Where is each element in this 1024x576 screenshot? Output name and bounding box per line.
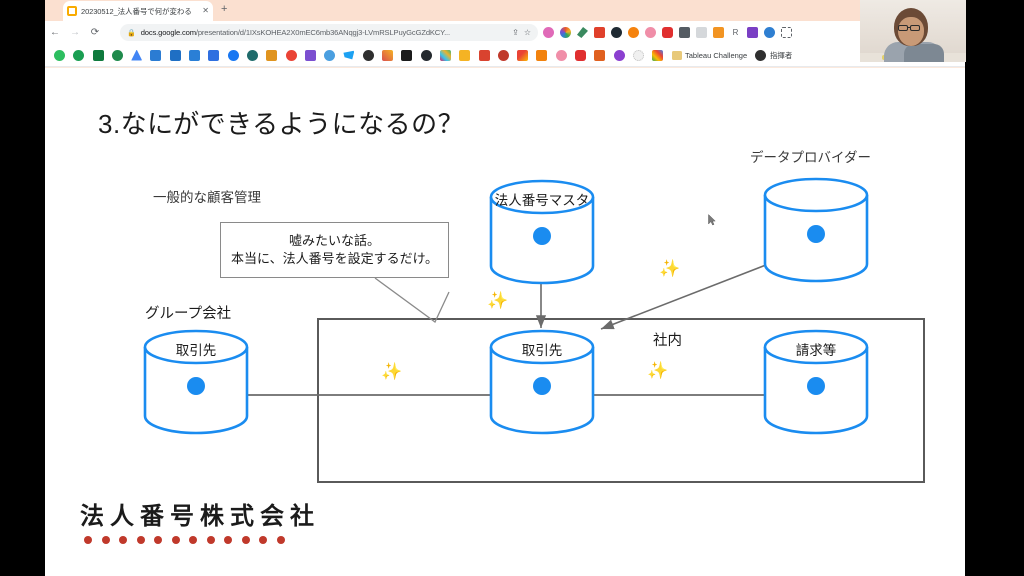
bookmark-orange-grid[interactable] <box>536 50 547 61</box>
logo-dot <box>102 536 110 544</box>
browser-tab[interactable]: 20230512_法人番号で何が変わる ✕ <box>63 1 213 21</box>
url-text: docs.google.com/presentation/d/1IXsKOHEA… <box>141 28 507 37</box>
logo-dot <box>189 536 197 544</box>
logo-dot <box>137 536 145 544</box>
bookmark-cloud-blue[interactable] <box>324 50 335 61</box>
sparkle-icon-2: ✨ <box>659 260 680 277</box>
logo-dot <box>277 536 285 544</box>
extension-r-letter[interactable]: R <box>730 27 741 38</box>
bookmark-book-blue[interactable] <box>208 50 219 61</box>
bookmark-link-shikisha[interactable]: 指揮者 <box>755 50 792 61</box>
cylinder-label: 取引先 <box>488 339 596 359</box>
url-path: /presentation/d/1IXsKOHEA2X0mEC6mb36ANqg… <box>196 28 450 37</box>
extension-colorwheel[interactable] <box>560 27 571 38</box>
bookmark-youtube[interactable] <box>575 50 586 61</box>
cylinder-label: 法人番号マスタ <box>488 189 596 209</box>
browser-window: 20230512_法人番号で何が変わる ✕ + ← → ⟳ 🔒 docs.goo… <box>45 0 965 68</box>
forward-button[interactable]: → <box>65 27 85 38</box>
bookmark-bracket-green[interactable] <box>93 50 104 61</box>
logo-dot <box>259 536 267 544</box>
cylinder-houjin-bangou-master[interactable]: 法人番号マスタ <box>488 180 596 286</box>
extension-pink[interactable] <box>543 27 554 38</box>
page-title: 3.なにができるようになるの？ <box>98 104 464 141</box>
bookmark-shield-green[interactable] <box>112 50 123 61</box>
bookmark-sheets-blue[interactable] <box>150 50 161 61</box>
label-data-provider: データプロバイダー <box>750 146 871 166</box>
cylinder-group-company-torihikisaki[interactable]: 取引先 <box>142 330 250 436</box>
close-icon[interactable]: ✕ <box>202 7 209 15</box>
bookmark-bar-chart-red[interactable] <box>479 50 490 61</box>
glasses-bridge-icon <box>908 27 911 28</box>
bookmark-google-drive[interactable] <box>131 50 142 61</box>
browser-toolbar: ← → ⟳ 🔒 docs.google.com/presentation/d/1… <box>45 21 965 44</box>
bookmark-chart-orange[interactable] <box>266 50 277 61</box>
extension-search-gray[interactable] <box>696 27 707 38</box>
webcam-overlay[interactable] <box>860 0 966 62</box>
cylinder-seikyuu[interactable]: 請求等 <box>762 330 870 436</box>
webcam-face <box>898 17 924 46</box>
extension-capture[interactable] <box>781 27 792 38</box>
bookmark-gear-dotted[interactable] <box>633 50 644 61</box>
bookmark-nodes-pink[interactable] <box>556 50 567 61</box>
tab-title: 20230512_法人番号で何が変わる <box>81 6 198 17</box>
extension-pink-nodes[interactable] <box>645 27 656 38</box>
bookmark-google[interactable] <box>286 50 297 61</box>
extension-gray-send[interactable] <box>679 27 690 38</box>
extension-purple-badge[interactable] <box>747 27 758 38</box>
company-name: 法人番号株式会社 <box>80 496 320 531</box>
logo-dot <box>224 536 232 544</box>
address-bar[interactable]: 🔒 docs.google.com/presentation/d/1IXsKOH… <box>120 24 538 41</box>
cylinder-label: 取引先 <box>142 339 250 359</box>
bookmark-share-blue[interactable] <box>189 50 200 61</box>
folder-icon <box>672 51 682 60</box>
bookmark-purple-app[interactable] <box>305 50 316 61</box>
extension-red-badge[interactable] <box>594 27 605 38</box>
logo-dot <box>242 536 250 544</box>
extension-grammarly[interactable] <box>577 27 588 38</box>
bookmark-twitter[interactable] <box>343 50 354 61</box>
share-icon[interactable]: ⇪ <box>512 28 519 37</box>
glasses-right-icon <box>910 25 920 31</box>
bookmark-chart-multicolor[interactable] <box>382 50 393 61</box>
speech-bubble-line-1: 嘘みたいな話。 <box>289 233 380 249</box>
mouse-pointer <box>708 214 716 226</box>
speech-bubble: 嘘みたいな話。 本当に、法人番号を設定するだけ。 <box>220 222 449 278</box>
new-tab-button[interactable]: + <box>221 4 227 15</box>
reload-button[interactable]: ⟳ <box>85 27 105 38</box>
webcam-shirt <box>904 44 944 62</box>
lock-icon: 🔒 <box>127 29 136 37</box>
logo-dot <box>119 536 127 544</box>
sparkle-icon-3: ✨ <box>381 363 402 380</box>
bookmark-orange-x[interactable] <box>594 50 605 61</box>
extension-orange-drop[interactable] <box>628 27 639 38</box>
logo-dot <box>154 536 162 544</box>
glasses-left-icon <box>898 25 908 31</box>
cylinder-internal-torihikisaki[interactable]: 取引先 <box>488 330 596 436</box>
bookmark-mountain-teal[interactable] <box>247 50 258 61</box>
back-button[interactable]: ← <box>45 27 65 38</box>
bookmark-folder-label: Tableau Challenge <box>685 51 747 60</box>
bookmark-evernote[interactable] <box>54 50 65 61</box>
extension-dark-circle[interactable] <box>611 27 622 38</box>
cylinder-data-provider[interactable] <box>762 178 870 284</box>
bookmark-link-label: 指揮者 <box>770 50 793 61</box>
slides-icon <box>67 6 77 16</box>
globe-icon <box>755 50 766 61</box>
label-group-company: グループ会社 <box>145 302 231 323</box>
screen: 20230512_法人番号で何が変わる ✕ + ← → ⟳ 🔒 docs.goo… <box>0 0 1024 576</box>
bookmark-yellow-note[interactable] <box>459 50 470 61</box>
slide-canvas[interactable]: 3.なにができるようになるの？ 一般的な顧客管理 データプロバイダー グループ会… <box>45 68 965 576</box>
bookmark-facebook[interactable] <box>228 50 239 61</box>
label-general-customer-management: 一般的な顧客管理 <box>153 186 261 206</box>
tab-strip: 20230512_法人番号で何が変わる ✕ + <box>45 0 965 21</box>
bookmarks-bar: Tableau Challenge 指揮者 <box>45 44 965 67</box>
extension-orange-tag[interactable] <box>713 27 724 38</box>
bookmark-excel-blue[interactable] <box>170 50 181 61</box>
logo-dot <box>172 536 180 544</box>
logo-dot <box>207 536 215 544</box>
bookmark-github[interactable] <box>421 50 432 61</box>
bookmark-slack[interactable] <box>440 50 451 61</box>
extension-youtube[interactable] <box>662 27 673 38</box>
extension-blue-swirl[interactable] <box>764 27 775 38</box>
bookmark-location[interactable] <box>73 50 84 61</box>
cylinder-label: 請求等 <box>762 339 870 359</box>
company-logo: 法人番号株式会社 <box>80 496 320 544</box>
sparkle-icon-1: ✨ <box>487 292 508 309</box>
url-domain: docs.google.com <box>141 28 196 37</box>
bookmark-photos[interactable] <box>652 50 663 61</box>
speech-bubble-line-2: 本当に、法人番号を設定するだけ。 <box>231 251 438 267</box>
extensions-row: R <box>543 23 792 42</box>
bookmark-target-red[interactable] <box>498 50 509 61</box>
bookmark-folder-tableau-challenge[interactable]: Tableau Challenge <box>672 51 748 60</box>
bookmark-circle-dark[interactable] <box>363 50 374 61</box>
logo-dot-row <box>84 536 320 544</box>
bookmark-purple-u[interactable] <box>614 50 625 61</box>
star-icon[interactable]: ☆ <box>524 28 531 37</box>
sparkle-icon-4: ✨ <box>647 362 668 379</box>
bookmark-black-square[interactable] <box>401 50 412 61</box>
logo-dot <box>84 536 92 544</box>
bookmark-gmail[interactable] <box>517 50 528 61</box>
